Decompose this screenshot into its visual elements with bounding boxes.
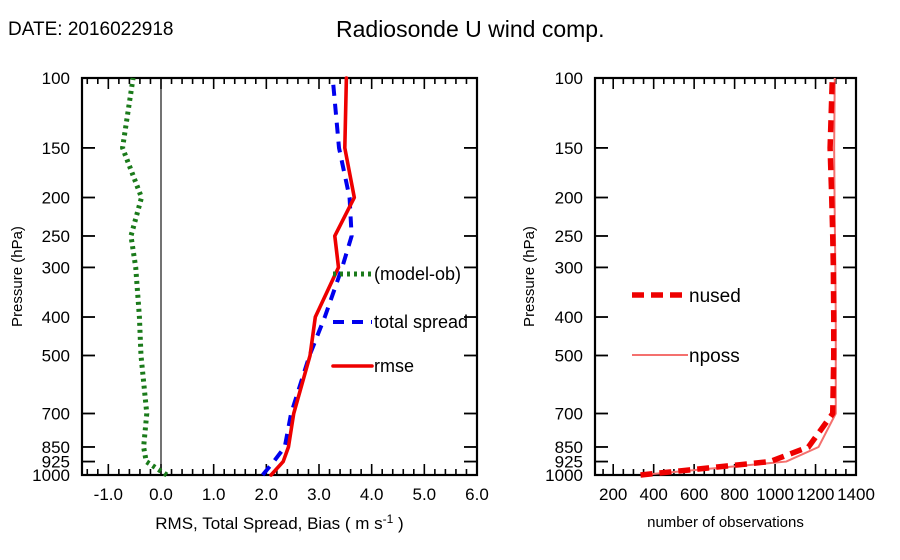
right-xtick-label: 1000 xyxy=(756,485,794,504)
left-xtick-label: 0.0 xyxy=(149,485,173,504)
left-xtick-label: 2.0 xyxy=(255,485,279,504)
left-y-axis-title: Pressure (hPa) xyxy=(9,226,26,327)
right-ytick-label: 250 xyxy=(555,227,583,246)
right-xtick-label: 800 xyxy=(720,485,748,504)
left-ytick-label: 100 xyxy=(42,69,70,88)
left-xtick-label: 1.0 xyxy=(202,485,226,504)
right-y-axis-title: Pressure (hPa) xyxy=(521,226,538,327)
right-legend: nusednposs xyxy=(632,286,741,367)
right-y-ticks xyxy=(595,78,856,475)
left-ytick-label: 250 xyxy=(42,227,70,246)
left-xtick-label: 6.0 xyxy=(465,485,489,504)
series-nposs xyxy=(642,78,836,475)
right-panel-plot: 2004006008001000120014001001502002503004… xyxy=(500,0,900,560)
left-x-axis-title: RMS, Total Spread, Bias ( m s-1 ) xyxy=(155,512,403,533)
right-xtick-label: 200 xyxy=(599,485,627,504)
right-x-ticks xyxy=(603,78,856,475)
left-panel-profile-stats: -1.00.01.02.03.04.05.06.0100150200250300… xyxy=(0,0,500,560)
left-ytick-label: 300 xyxy=(42,258,70,277)
series-nused xyxy=(641,78,834,475)
left-ytick-label: 500 xyxy=(42,346,70,365)
right-x-axis-title: number of observations xyxy=(647,514,804,531)
legend-label-rmse: rmse xyxy=(374,356,414,376)
right-ytick-label: 200 xyxy=(555,189,583,208)
left-xtick-label: 5.0 xyxy=(413,485,437,504)
legend-label-nposs: nposs xyxy=(689,346,740,367)
left-ytick-label: 150 xyxy=(42,139,70,158)
left-xtick-label: -1.0 xyxy=(94,485,123,504)
series-total-spread xyxy=(263,78,352,475)
right-ytick-label: 100 xyxy=(555,69,583,88)
right-ytick-label: 400 xyxy=(555,308,583,327)
left-ytick-label: 700 xyxy=(42,405,70,424)
right-xtick-label: 600 xyxy=(680,485,708,504)
right-xtick-label: 400 xyxy=(639,485,667,504)
right-xtick-label: 1200 xyxy=(797,485,835,504)
legend-label--model-ob-: (model-ob) xyxy=(374,264,461,284)
chart-page: DATE: 2016022918 Radiosonde U wind comp.… xyxy=(0,0,900,560)
right-ytick-label: 500 xyxy=(555,346,583,365)
legend-label-nused: nused xyxy=(689,286,741,307)
right-plot-frame xyxy=(595,78,856,475)
right-ytick-label: 300 xyxy=(555,258,583,277)
legend-label-total-spread: total spread xyxy=(374,312,468,332)
left-xtick-label: 4.0 xyxy=(360,485,384,504)
right-xtick-label: 1400 xyxy=(837,485,875,504)
right-ytick-label: 150 xyxy=(555,139,583,158)
series--model-ob- xyxy=(123,78,167,475)
left-xtick-label: 3.0 xyxy=(307,485,331,504)
left-legend: (model-ob)total spreadrmse xyxy=(333,264,468,376)
right-ytick-label: 700 xyxy=(555,405,583,424)
left-ytick-label: 400 xyxy=(42,308,70,327)
right-panel-observation-counts: 2004006008001000120014001001502002503004… xyxy=(500,0,900,560)
left-panel-plot: -1.00.01.02.03.04.05.06.0100150200250300… xyxy=(0,0,500,560)
right-ytick-label: 1000 xyxy=(545,466,583,485)
left-ytick-label: 200 xyxy=(42,189,70,208)
left-ytick-label: 1000 xyxy=(32,466,70,485)
